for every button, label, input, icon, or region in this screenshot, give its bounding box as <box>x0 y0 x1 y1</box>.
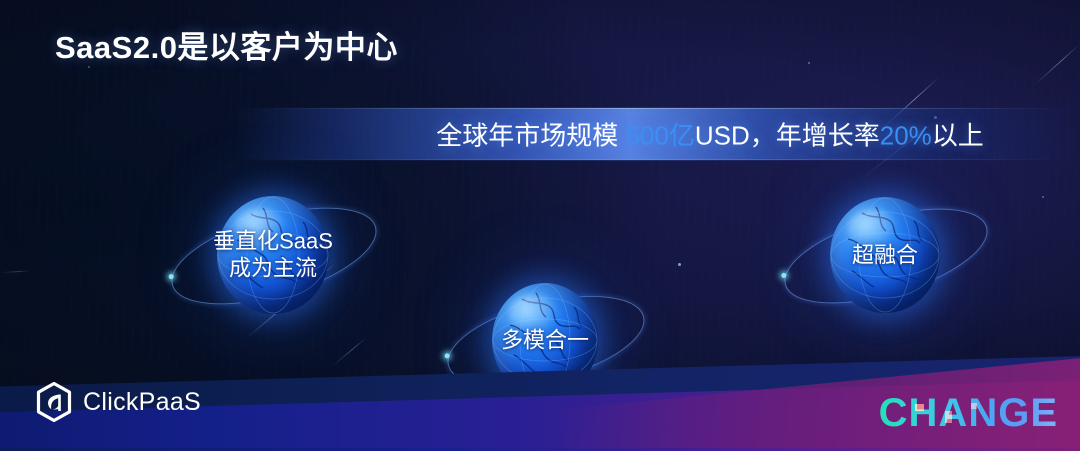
banner-growth-rate: 20% <box>880 121 932 151</box>
globe-label-line1: 多模合一 <box>501 326 589 353</box>
banner-top-edge <box>266 108 1063 109</box>
clickpaas-hexagon-icon <box>36 382 72 422</box>
banner-mid-text: USD，年增长率 <box>695 121 880 151</box>
globe-label: 垂直化SaaS 成为主流 <box>213 228 333 283</box>
clickpaas-logo-text: ClickPaaS <box>83 388 201 417</box>
globe-label-line1: 超融合 <box>852 241 918 268</box>
globe-label-line2: 成为主流 <box>213 255 333 282</box>
globe-label: 超融合 <box>852 241 918 268</box>
change-wordmark-text: CHANGE <box>879 391 1058 435</box>
globe-label: 多模合一 <box>501 326 589 353</box>
banner-post-text: 以上 <box>932 121 984 151</box>
clickpaas-logo[interactable]: ClickPaaS <box>36 382 201 422</box>
glitch-fragment <box>915 404 924 411</box>
banner-text: 全球年市场规模 500亿USD，年增长率20%以上 <box>232 116 1080 153</box>
glitch-fragment <box>945 411 952 423</box>
orbit-dot <box>781 272 787 278</box>
banner-pre-text: 全球年市场规模 <box>436 121 625 151</box>
page-title: SaaS2.0是以客户为中心 <box>55 22 398 67</box>
glitch-fragment <box>971 403 977 409</box>
orbit-dot <box>168 274 174 280</box>
banner-amount: 500亿 <box>625 121 694 151</box>
slide-root: SaaS2.0是以客户为中心 全球年市场规模 500亿USD，年增长率20%以上 <box>0 0 1080 451</box>
market-size-banner: 全球年市场规模 500亿USD，年增长率20%以上 <box>232 108 1080 160</box>
globe-label-line1: 垂直化SaaS <box>213 228 333 255</box>
banner-bottom-edge <box>266 159 1063 160</box>
change-wordmark: CHANGE <box>879 393 1058 433</box>
